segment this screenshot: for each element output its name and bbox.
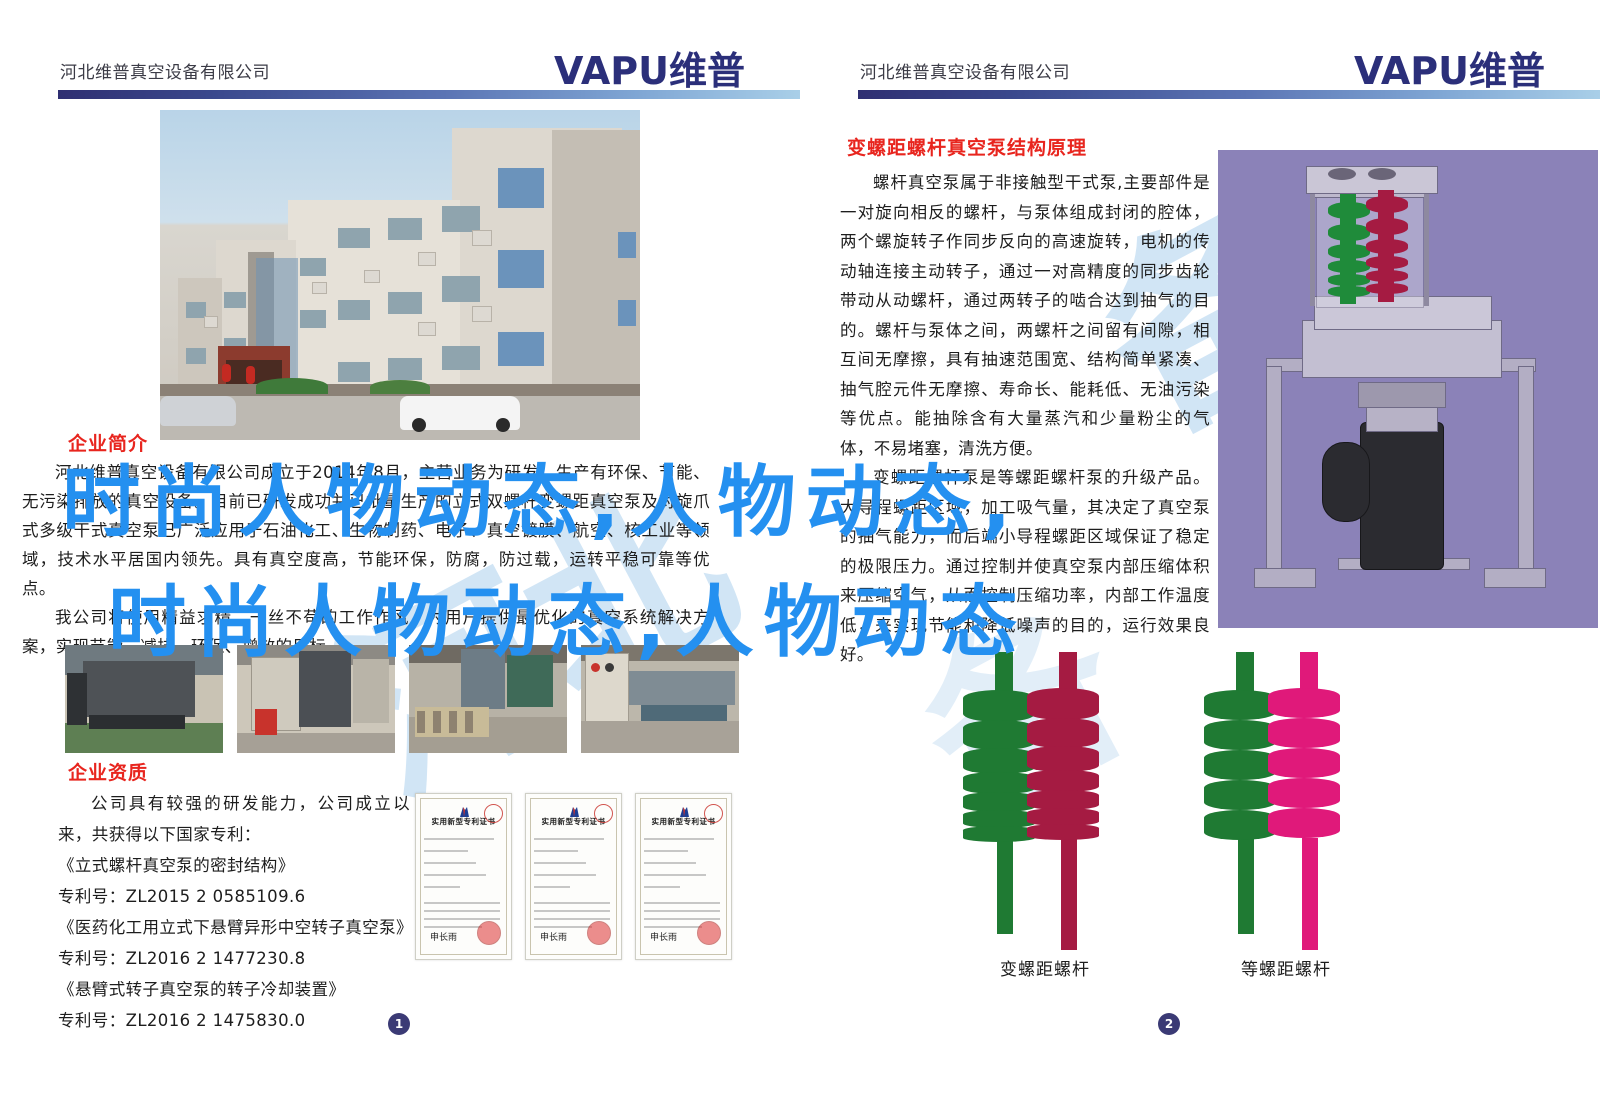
patent-3-value: ZL2016 2 1475830.0 bbox=[126, 1011, 306, 1030]
patent-3-number: 专利号：ZL2016 2 1475830.0 bbox=[58, 1005, 410, 1036]
header-gradient-rule-right bbox=[858, 90, 1600, 99]
patent-2-name: 《医药化工用立式下悬臂异形中空转子真空泵》 bbox=[58, 912, 410, 943]
patent-certificate-1: 实用新型专利证书 申长雨 bbox=[415, 793, 512, 960]
factory-photo-2 bbox=[237, 645, 395, 753]
section-title-company-intro: 企业简介 bbox=[68, 429, 148, 456]
patent-1-name: 《立式螺杆真空泵的密封结构》 bbox=[58, 850, 410, 881]
section-title-pump-principle: 变螺距螺杆真空泵结构原理 bbox=[847, 133, 1087, 160]
patent-2-number: 专利号：ZL2016 2 1477230.8 bbox=[58, 943, 410, 974]
patent-office-logo-icon bbox=[567, 803, 581, 815]
company-name-left: 河北维普真空设备有限公司 bbox=[60, 58, 270, 83]
section-title-qualifications: 企业资质 bbox=[68, 758, 148, 785]
factory-photo-3 bbox=[409, 645, 567, 753]
equal-pitch-rotor-image bbox=[1196, 648, 1376, 948]
qualifications-paragraph-1: 公司具有较强的研发能力，公司成立以来，共获得以下国家专利： bbox=[58, 788, 410, 850]
brochure-spread: 河北 河北维普真空设备有限公司 VAPU维普 bbox=[0, 0, 1600, 1093]
pump-principle-body: 螺杆真空泵属于非接触型干式泵,主要部件是一对旋向相反的螺杆，与泵体组成封闭的腔体… bbox=[840, 168, 1210, 670]
page-number-badge-left: 1 bbox=[388, 1013, 410, 1035]
patent-3-name: 《悬臂式转子真空泵的转子冷却装置》 bbox=[58, 974, 410, 1005]
equal-pitch-rotor-label: 等螺距螺杆 bbox=[1196, 955, 1376, 980]
variable-pitch-rotor-label: 变螺距螺杆 bbox=[955, 955, 1135, 980]
patent-1-number: 专利号：ZL2015 2 0585109.6 bbox=[58, 881, 410, 912]
factory-photo-4 bbox=[581, 645, 739, 753]
patent-office-logo-icon bbox=[457, 803, 471, 815]
variable-pitch-rotor-image bbox=[955, 648, 1135, 948]
patent-certificate-group: 实用新型专利证书 申长雨 实用新型专利证书 bbox=[415, 793, 745, 958]
patent-3-label: 专利号： bbox=[58, 1011, 126, 1030]
patent-1-label: 专利号： bbox=[58, 887, 126, 906]
right-page-header: 河北维普真空设备有限公司 VAPU维普 bbox=[800, 0, 1600, 104]
company-intro-paragraph-1: 河北维普真空设备有限公司成立于2014年8月，主营业务为研发、生产有环保、节能、… bbox=[22, 458, 710, 603]
pump-principle-paragraph-1: 螺杆真空泵属于非接触型干式泵,主要部件是一对旋向相反的螺杆，与泵体组成封闭的腔体… bbox=[840, 168, 1210, 463]
left-page-header: 河北维普真空设备有限公司 VAPU维普 bbox=[0, 0, 800, 104]
pump-cad-render bbox=[1218, 150, 1598, 628]
certificate-signature-1: 申长雨 bbox=[430, 930, 457, 943]
office-building-photo bbox=[160, 110, 640, 440]
patent-2-label: 专利号： bbox=[58, 949, 126, 968]
certificate-signature-2: 申长雨 bbox=[540, 930, 567, 943]
brand-logo-left: VAPU维普 bbox=[554, 40, 745, 95]
patent-certificate-3: 实用新型专利证书 申长雨 bbox=[635, 793, 732, 960]
page-number-badge-right: 2 bbox=[1158, 1013, 1180, 1035]
company-intro-body: 河北维普真空设备有限公司成立于2014年8月，主营业务为研发、生产有环保、节能、… bbox=[22, 458, 710, 661]
certificate-signature-3: 申长雨 bbox=[650, 930, 677, 943]
patent-2-value: ZL2016 2 1477230.8 bbox=[126, 949, 306, 968]
company-name-right: 河北维普真空设备有限公司 bbox=[860, 58, 1070, 83]
patent-office-logo-icon bbox=[677, 803, 691, 815]
factory-photo-strip bbox=[65, 645, 735, 753]
brand-logo-right: VAPU维普 bbox=[1354, 40, 1545, 95]
patent-certificate-2: 实用新型专利证书 申长雨 bbox=[525, 793, 622, 960]
factory-photo-1 bbox=[65, 645, 223, 753]
patent-1-value: ZL2015 2 0585109.6 bbox=[126, 887, 306, 906]
left-page: 河北 河北维普真空设备有限公司 VAPU维普 bbox=[0, 0, 800, 1093]
pump-principle-paragraph-2: 变螺距螺杆泵是等螺距螺杆泵的升级产品。大导程螺距区域，加工吸气量，其决定了真空泵… bbox=[840, 463, 1210, 670]
qualifications-body: 公司具有较强的研发能力，公司成立以来，共获得以下国家专利： 《立式螺杆真空泵的密… bbox=[58, 788, 410, 1036]
header-gradient-rule-left bbox=[58, 90, 800, 99]
